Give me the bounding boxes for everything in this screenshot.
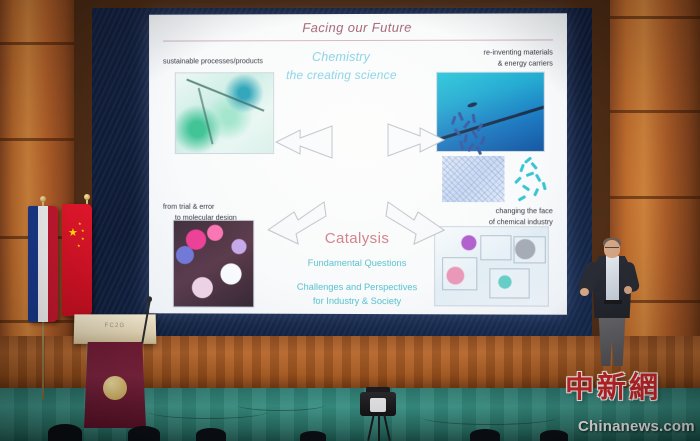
speaker-shirt (606, 256, 619, 302)
slide-headline-line2: the creating science (286, 68, 397, 82)
audience-head (196, 428, 226, 441)
audience-head (300, 431, 326, 441)
projected-slide: Facing our Future Chemistry the creating… (149, 13, 567, 314)
slide-center-sub1: Fundamental Questions (149, 258, 567, 269)
china-flag-cloth: ★ ★ ★ ★ ★ (62, 204, 92, 316)
slide-center-sub2-line1: Challenges and Perspectives (149, 281, 567, 292)
floor-cable (420, 408, 560, 425)
france-flag-cloth (28, 206, 58, 322)
chinanews-chinese-watermark: 中新網 (565, 364, 661, 406)
label-top-right-line2: & energy carriers (410, 59, 553, 69)
catalyst-surface-graphic (442, 156, 504, 202)
slide-center-sub2-line2: for Industry & Society (149, 295, 567, 306)
podium-emblem (103, 376, 127, 400)
molecule-branch-graphic (508, 154, 554, 206)
speaker-belt (604, 300, 622, 304)
label-top-right-line1: re-inventing materials (410, 47, 553, 57)
audience-head (540, 430, 568, 441)
speaker-left-hand (580, 288, 589, 296)
label-top-left: sustainable processes/products (163, 56, 302, 66)
floor-cable (236, 398, 326, 411)
slide-title-rule (163, 39, 553, 41)
molecule-ribbon-graphic (448, 110, 496, 150)
audience-head (470, 429, 500, 441)
audience-head (128, 426, 160, 441)
tripod-leg (378, 414, 380, 441)
screenshot-stage: Facing our Future Chemistry the creating… (0, 0, 700, 441)
photo-top-left (175, 72, 274, 154)
camera-lens-icon (370, 398, 386, 412)
speaker-glasses-icon (605, 247, 619, 251)
slide-center-heading: Catalysis (149, 230, 567, 248)
audience-head (48, 424, 82, 441)
chinanews-english-watermark: Chinanews.com (578, 418, 695, 435)
slide-headline-line1: Chemistry (312, 50, 370, 64)
podium-body (84, 342, 146, 428)
slide-title: Facing our Future (149, 19, 567, 35)
speaker-right-hand (624, 286, 632, 294)
